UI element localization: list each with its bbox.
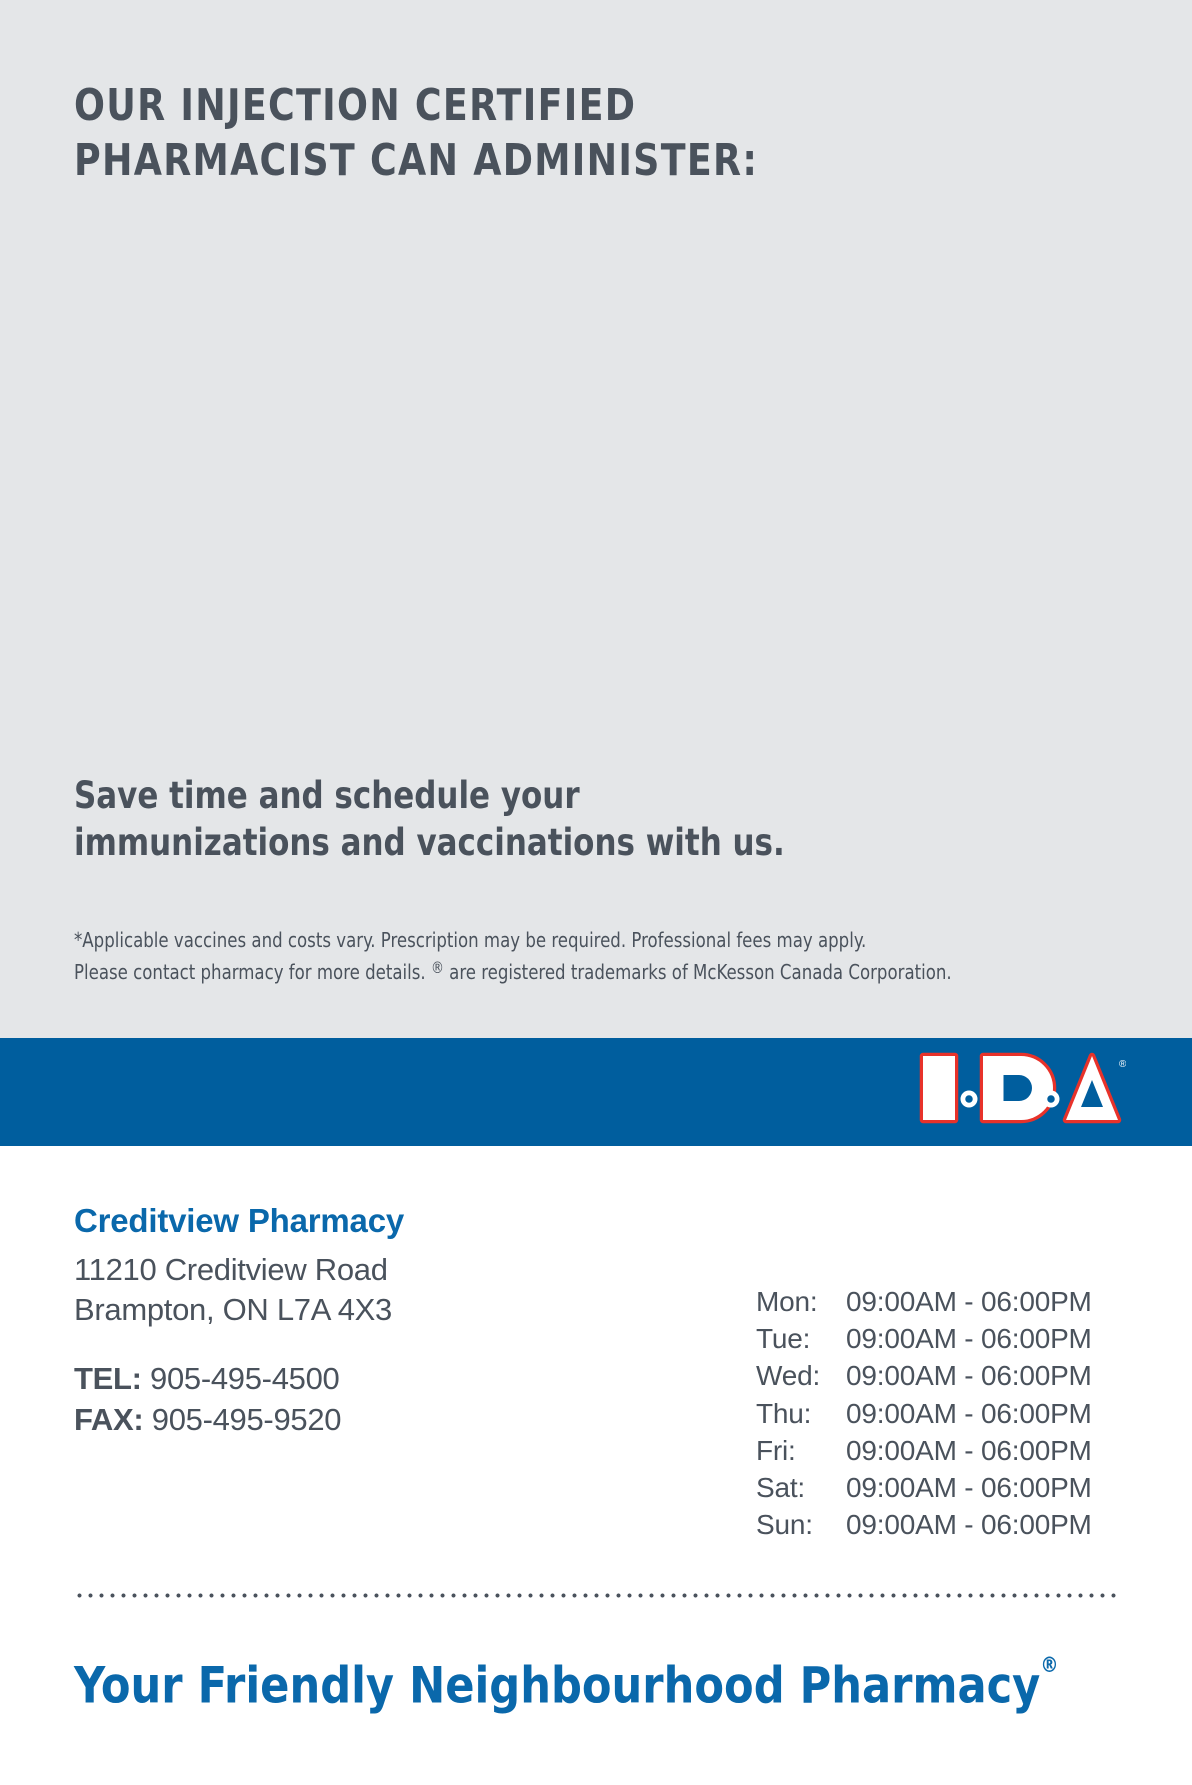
fax-value: 905-495-9520 [152,1402,341,1437]
hours-day-label: Thu: [756,1395,846,1432]
hours-day-label: Fri: [756,1432,846,1469]
table-row: Mon: 09:00AM - 06:00PM [756,1283,1092,1320]
hours-day-label: Mon: [756,1283,846,1320]
contact-block: Creditview Pharmacy 11210 Creditview Roa… [74,1203,694,1441]
headline-line-1: OUR INJECTION CERTIFIED [74,78,994,133]
hero-grey-panel: OUR INJECTION CERTIFIED PHARMACIST CAN A… [0,0,1192,1038]
hours-day-label: Wed: [756,1357,846,1394]
hours-day-value: 09:00AM - 06:00PM [846,1357,1092,1394]
contact-numbers: TEL: 905-495-4500 FAX: 905-495-9520 [74,1359,694,1440]
address-line-1: 11210 Creditview Road [74,1250,694,1290]
hours-day-value: 09:00AM - 06:00PM [846,1469,1092,1506]
telephone-label: TEL: [74,1361,142,1396]
table-row: Sat: 09:00AM - 06:00PM [756,1469,1092,1506]
fax-label: FAX: [74,1402,143,1437]
table-row: Thu: 09:00AM - 06:00PM [756,1395,1092,1432]
dotted-divider [74,1592,1118,1599]
hours-day-label: Sat: [756,1469,846,1506]
store-hours-body: Mon: 09:00AM - 06:00PM Tue: 09:00AM - 06… [756,1283,1092,1544]
ida-logo: ® [916,1049,1126,1127]
hours-day-value: 09:00AM - 06:00PM [846,1395,1092,1432]
fax-line: FAX: 905-495-9520 [74,1400,694,1441]
telephone-line: TEL: 905-495-4500 [74,1359,694,1400]
subhead-line-2: immunizations and vaccinations with us. [74,819,1004,866]
disclaimer-line-2-part-a: Please contact pharmacy for more details… [74,960,431,984]
headline-line-2: PHARMACIST CAN ADMINISTER: [74,133,994,188]
footer-registered-mark: ® [1040,1653,1058,1677]
telephone-value[interactable]: 905-495-4500 [150,1361,339,1396]
disclaimer-line-2: Please contact pharmacy for more details… [74,956,1037,988]
pharmacy-name: Creditview Pharmacy [74,1203,694,1240]
page-title: OUR INJECTION CERTIFIED PHARMACIST CAN A… [74,78,994,188]
disclaimer-line-2-part-b: are registered trademarks of McKesson Ca… [444,960,952,984]
table-row: Tue: 09:00AM - 06:00PM [756,1320,1092,1357]
table-row: Wed: 09:00AM - 06:00PM [756,1357,1092,1394]
hours-day-value: 09:00AM - 06:00PM [846,1432,1092,1469]
hours-day-label: Sun: [756,1506,846,1543]
disclaimer-text: *Applicable vaccines and costs vary. Pre… [74,925,1037,988]
hours-day-label: Tue: [756,1320,846,1357]
store-hours-table: Mon: 09:00AM - 06:00PM Tue: 09:00AM - 06… [756,1283,1092,1544]
subhead-line-1: Save time and schedule your [74,772,1004,819]
hours-day-value: 09:00AM - 06:00PM [846,1283,1092,1320]
promo-subheading: Save time and schedule your immunization… [74,772,1004,867]
table-row: Fri: 09:00AM - 06:00PM [756,1432,1092,1469]
footer-tagline-text: Your Friendly Neighbourhood Pharmacy [74,1656,1040,1714]
hours-day-value: 09:00AM - 06:00PM [846,1506,1092,1543]
registered-trademark-symbol: ® [431,958,444,977]
table-row: Sun: 09:00AM - 06:00PM [756,1506,1092,1543]
address-line-2: Brampton, ON L7A 4X3 [74,1290,694,1330]
disclaimer-line-1: *Applicable vaccines and costs vary. Pre… [74,925,1037,956]
hours-day-value: 09:00AM - 06:00PM [846,1320,1092,1357]
footer-tagline: Your Friendly Neighbourhood Pharmacy® [74,1653,1058,1714]
logo-registered-mark: ® [1119,1059,1126,1070]
